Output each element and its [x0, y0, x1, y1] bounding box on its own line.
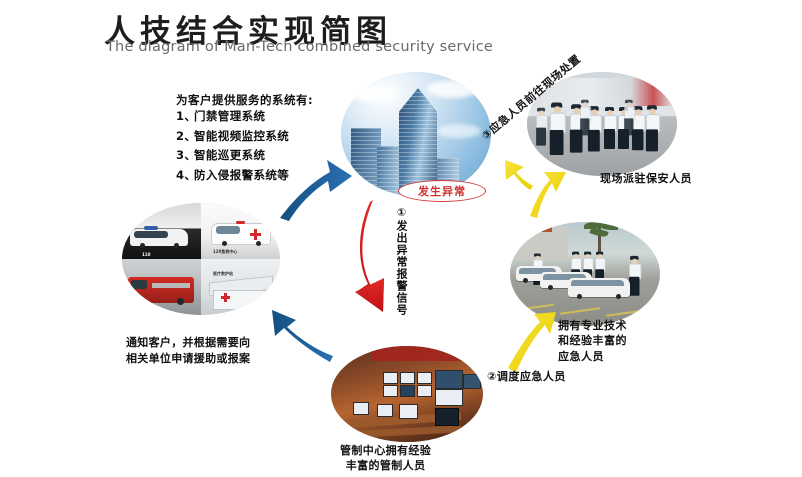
- wall-monitor: [417, 385, 432, 397]
- node-photo-building: [341, 72, 491, 196]
- photo-quadrant-medical-tent: 医疗救护站: [201, 259, 280, 315]
- caption-line: 管制中心拥有经验: [340, 443, 431, 458]
- roof-tiles: [518, 224, 552, 232]
- systems-list: 1、门禁管理系统 2、智能视频监控系统 3、智能巡更系统 4、防入侵报警系统等: [176, 108, 289, 186]
- status-badge-alert: 发生异常: [398, 180, 486, 202]
- police-car: [130, 229, 188, 246]
- arrow-red-down: [355, 200, 384, 312]
- cloud-shape: [349, 86, 395, 102]
- photo-quadrant-police: 110: [122, 203, 201, 259]
- ambulance: [211, 223, 271, 245]
- node-photo-control-center: [331, 346, 483, 442]
- list-item-label: 门禁管理系统: [194, 109, 265, 123]
- red-cross-icon: [224, 293, 227, 302]
- operator-monitor: [377, 404, 393, 417]
- wall-screen-large: [463, 374, 481, 389]
- car-window: [134, 231, 168, 238]
- arrow-blue-upleft: [272, 310, 333, 362]
- skyscraper-mid: [377, 146, 399, 196]
- wall-monitor: [383, 385, 398, 397]
- annotation-step-2: ②调度应急人员: [487, 368, 566, 384]
- truck-window: [131, 280, 147, 289]
- caption-notify-client: 通知客户，并根据需要向 相关单位申请援助或报案: [126, 335, 250, 367]
- caption-line: 拥有专业技术: [558, 318, 627, 333]
- wall-monitor: [400, 372, 415, 384]
- ceiling-band: [371, 346, 483, 361]
- photo-quadrant-fire-truck: [122, 259, 201, 315]
- wall-monitor: [383, 372, 398, 384]
- caption-emergency-staff: 拥有专业技术 和经验丰富的 应急人员: [558, 318, 627, 364]
- page-subtitle: The diagram of Man-Tech combined securit…: [106, 39, 493, 55]
- tent-body: [213, 290, 269, 310]
- list-item: 4、防入侵报警系统等: [176, 167, 289, 183]
- red-cross-icon: [254, 229, 257, 240]
- patrol-car: [568, 278, 630, 297]
- light-bar: [236, 221, 245, 224]
- palm-frond: [600, 223, 618, 230]
- node-photo-patrol-cars: [510, 222, 660, 326]
- wall-screen-large: [435, 389, 463, 406]
- light-bar: [144, 226, 158, 230]
- diagram-canvas: 人技结合实现简图 The diagram of Man-Tech combine…: [0, 0, 802, 477]
- list-item-number: 4、: [176, 167, 194, 183]
- list-item-label: 智能巡更系统: [194, 148, 265, 162]
- list-item-label: 智能视频监控系统: [194, 129, 289, 143]
- wall-screen-large: [435, 370, 463, 389]
- wall-monitor: [400, 385, 415, 397]
- caption-line: 和经验丰富的: [558, 333, 627, 348]
- caption-line: 相关单位申请援助或报案: [126, 351, 250, 367]
- list-item-number: 3、: [176, 147, 194, 163]
- photo-label: 医疗救护站: [213, 271, 233, 277]
- photo-label: 110: [142, 252, 150, 257]
- systems-heading: 为客户提供服务的系统有:: [176, 92, 313, 108]
- cloud-shape: [427, 80, 479, 98]
- list-item: 2、智能视频监控系统: [176, 128, 289, 144]
- caption-line: 丰富的管制人员: [340, 458, 431, 473]
- operator-monitor: [399, 404, 418, 419]
- caption-control-center: 管制中心拥有经验 丰富的管制人员: [340, 443, 431, 474]
- caption-line: 应急人员: [558, 349, 627, 364]
- list-item-number: 1、: [176, 108, 194, 124]
- fire-truck: [128, 277, 194, 303]
- window-lines: [377, 146, 399, 196]
- caption-guards: 现场派驻保安人员: [600, 170, 692, 186]
- cloud-shape: [437, 124, 481, 138]
- car-window: [216, 226, 240, 234]
- list-item-label: 防入侵报警系统等: [194, 168, 289, 182]
- annotation-step-1: ①发出异常报警信号: [396, 206, 407, 316]
- list-item: 1、门禁管理系统: [176, 108, 289, 124]
- caption-line: 通知客户，并根据需要向: [126, 335, 250, 351]
- list-item: 3、智能巡更系统: [176, 147, 289, 163]
- operator-monitor: [435, 408, 459, 426]
- ladder: [152, 283, 190, 288]
- node-photo-rescue-services: 110 120急救中心: [122, 203, 280, 315]
- photo-quadrant-ambulance: 120急救中心: [201, 203, 280, 259]
- list-item-number: 2、: [176, 128, 194, 144]
- operator-monitor: [353, 402, 369, 415]
- photo-label: 120急救中心: [213, 249, 237, 255]
- wall-monitor: [417, 372, 432, 384]
- arrow-yellow-upper: [530, 172, 566, 218]
